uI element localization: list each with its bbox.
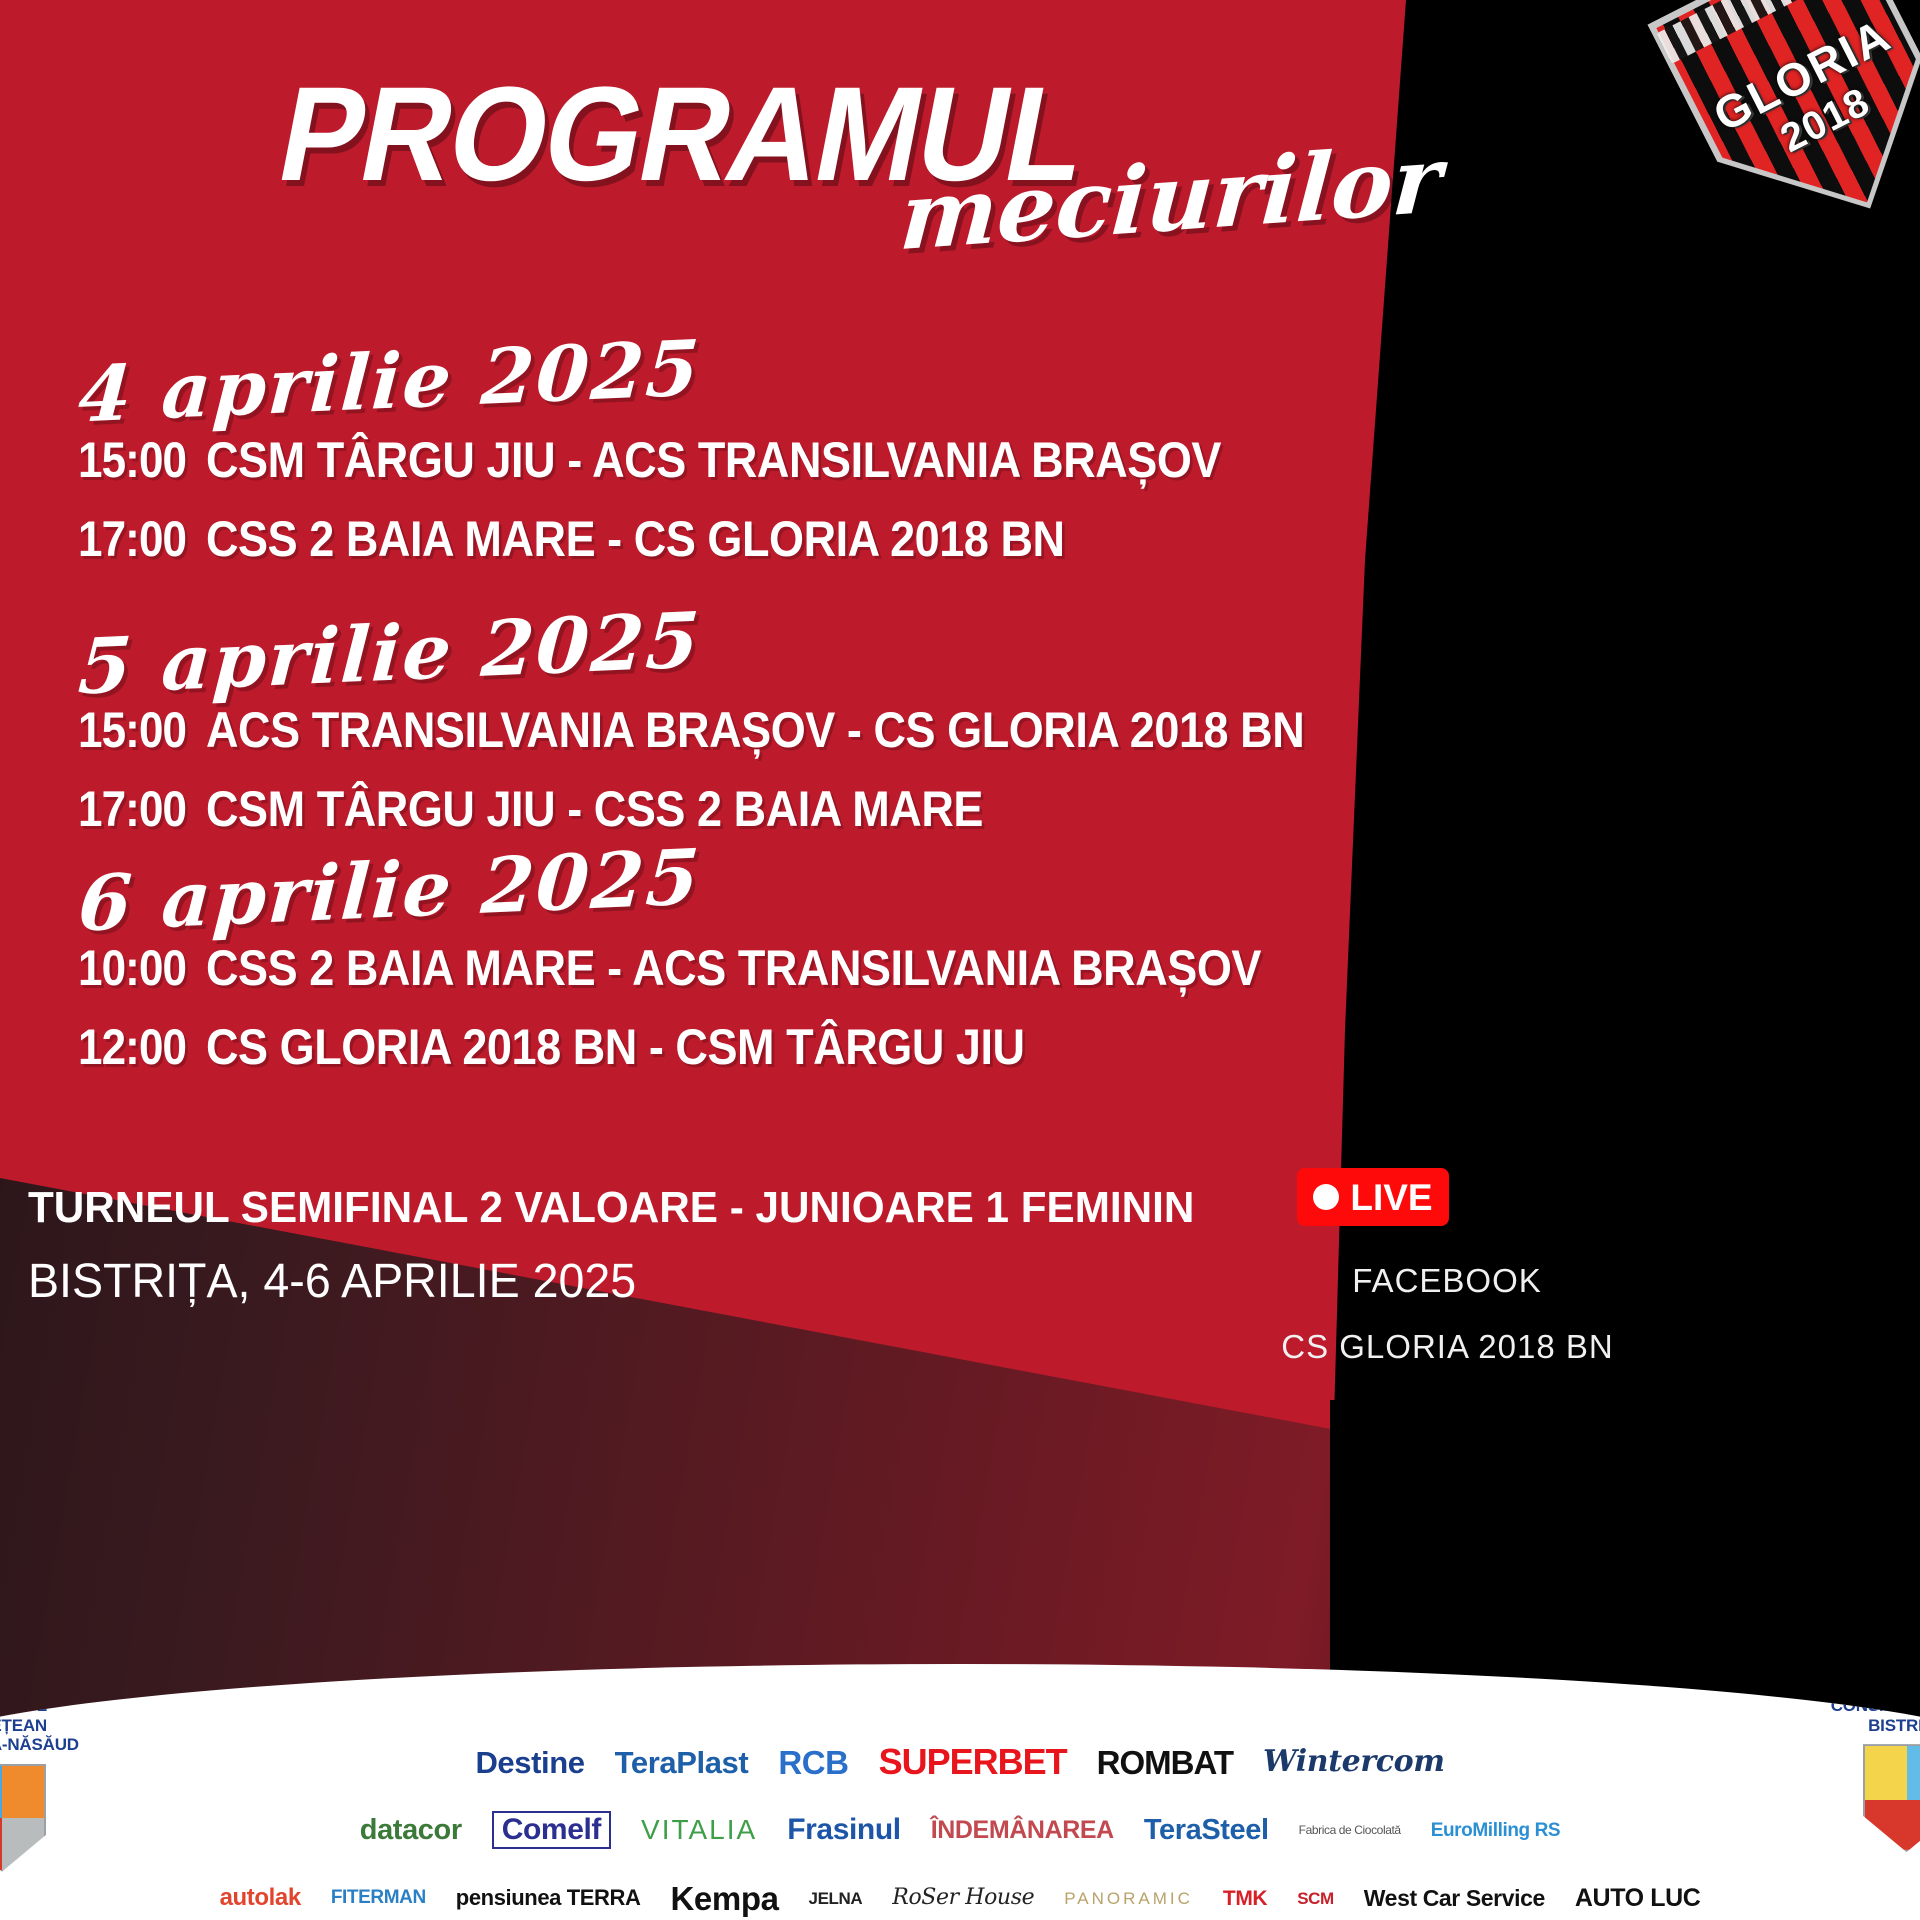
tournament-location-dates: BISTRIȚA, 4-6 APRILIE 2025 [28, 1258, 636, 1306]
sponsor-logo-autolak: autolak [220, 1886, 301, 1910]
sponsor-logo-fabrica-ciocolata: Fabrica de Ciocolată [1299, 1823, 1401, 1837]
sponsor-logo-euromilling: EuroMilling RS [1431, 1821, 1561, 1840]
live-channel: CS GLORIA 2018 BN [1240, 1330, 1655, 1363]
match-teams: CSS 2 BAIA MARE - CS GLORIA 2018 BN [206, 507, 1065, 572]
match-time: 17:00 [78, 507, 191, 572]
sponsor-logo-panoramic: PANORAMIC [1064, 1890, 1193, 1907]
sponsor-logo-terasteel: TeraSteel [1144, 1816, 1269, 1845]
match-teams: CSM TÂRGU JIU - ACS TRANSILVANIA BRAȘOV [206, 428, 1221, 493]
match-time: 12:00 [78, 1015, 191, 1080]
sponsor-logo-fiterman: FITERMAN [331, 1888, 426, 1909]
match-teams: CS GLORIA 2018 BN - CSM TÂRGU JIU [206, 1015, 1025, 1080]
sponsor-logo-tmk: TMK [1223, 1888, 1267, 1909]
sponsor-logo-rcb: RCB [778, 1746, 848, 1779]
sponsor-logo-rombat: ROMBAT [1097, 1746, 1233, 1779]
match-row: 10:00 CSS 2 BAIA MARE - ACS TRANSILVANIA… [78, 936, 1378, 1001]
sponsor-bar: CONSILIUL JUDEȚEAN BISTRIȚA-NĂSĂUD CONSI… [0, 1664, 1920, 1920]
match-row: 17:00 CSS 2 BAIA MARE - CS GLORIA 2018 B… [78, 507, 1334, 572]
sponsor-logo-roser-house: RoSer House [892, 1887, 1034, 1909]
sponsor-logo-teraplast: TeraPlast [615, 1747, 749, 1778]
poster-canvas: GLORIA 2018 PROGRAMUL meciurilor 4 april… [0, 0, 1920, 1920]
match-teams: CSS 2 BAIA MARE - ACS TRANSILVANIA BRAȘO… [206, 936, 1261, 1001]
sponsor-logo-wintercom: Wintercom [1263, 1747, 1445, 1777]
match-teams: ACS TRANSILVANIA BRAȘOV - CS GLORIA 2018… [206, 698, 1304, 763]
match-row: 15:00 ACS TRANSILVANIA BRAȘOV - CS GLORI… [78, 698, 1426, 763]
schedule-day-block: 4 aprilie 2025 15:00 CSM TÂRGU JIU - ACS… [78, 330, 1334, 572]
sponsor-logo-datacor: datacor [360, 1816, 462, 1845]
record-dot-icon [1313, 1184, 1339, 1210]
sponsor-logo-pensiunea-terra: pensiunea TERRA [456, 1887, 641, 1909]
sponsor-row: datacor Comelf VITALIA Frasinul ÎNDEMÂNA… [0, 1796, 1920, 1864]
match-row: 12:00 CS GLORIA 2018 BN - CSM TÂRGU JIU [78, 1015, 1378, 1080]
sponsor-logo-comelf: Comelf [492, 1811, 611, 1849]
sponsor-logo-destine: Destine [475, 1747, 584, 1778]
sponsor-logo-west-car-service: West Car Service [1364, 1887, 1545, 1910]
schedule-day-block: 6 aprilie 2025 10:00 CSS 2 BAIA MARE - A… [78, 838, 1378, 1080]
schedule-day-block: 5 aprilie 2025 15:00 ACS TRANSILVANIA BR… [78, 600, 1426, 842]
live-badge[interactable]: LIVE [1297, 1168, 1449, 1226]
match-time: 15:00 [78, 428, 191, 493]
tournament-title: TURNEUL SEMIFINAL 2 VALOARE - JUNIOARE 1… [28, 1186, 1194, 1230]
sponsor-logo-vitalia: VITALIA [641, 1816, 757, 1844]
match-time: 10:00 [78, 936, 191, 1001]
sponsor-logo-scm: SCM [1297, 1890, 1334, 1907]
sponsor-logo-jelna: JELNA [809, 1890, 863, 1907]
sponsor-logo-indemanarea: ÎNDEMÂNAREA [931, 1817, 1114, 1843]
match-time: 15:00 [78, 698, 191, 763]
sponsor-rows: Destine TeraPlast RCB SUPERBET ROMBAT Wi… [0, 1728, 1920, 1920]
sponsor-label-line1: CONSILIUL LOCAL [1819, 1696, 1920, 1716]
match-row: 15:00 CSM TÂRGU JIU - ACS TRANSILVANIA B… [78, 428, 1334, 493]
sponsor-row: autolak FITERMAN pensiunea TERRA Kempa J… [0, 1864, 1920, 1920]
live-label: LIVE [1350, 1179, 1432, 1216]
sponsor-logo-autoluc: AUTO LUC [1575, 1886, 1701, 1911]
sponsor-logo-kempa: Kempa [671, 1882, 779, 1915]
sponsor-logo-frasinul: Frasinul [787, 1815, 901, 1845]
sponsor-logo-superbet: SUPERBET [879, 1744, 1067, 1780]
sponsor-row: Destine TeraPlast RCB SUPERBET ROMBAT Wi… [0, 1728, 1920, 1796]
match-time: 17:00 [78, 777, 191, 842]
live-platform: FACEBOOK [1297, 1264, 1597, 1297]
